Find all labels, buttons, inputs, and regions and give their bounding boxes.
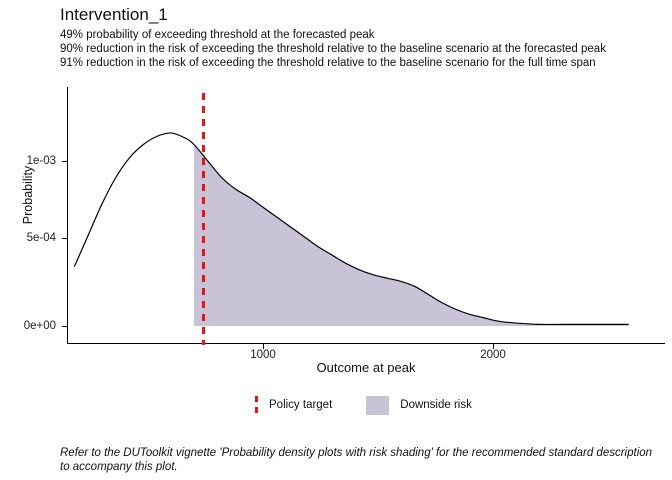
legend: Policy target Downside risk: [255, 392, 595, 418]
downside-risk-area: [194, 145, 629, 327]
probability-density-plot: Intervention_1 49% probability of exceed…: [0, 0, 672, 480]
plot-caption: Refer to the DUToolkit vignette 'Probabi…: [60, 446, 660, 474]
legend-label-policy-target: Policy target: [269, 399, 332, 411]
dashed-line-icon: [255, 396, 258, 415]
legend-item-downside-risk[interactable]: Downside risk: [366, 396, 472, 415]
policy-target-vline: [202, 93, 205, 345]
legend-item-policy-target[interactable]: Policy target: [255, 396, 332, 415]
legend-label-downside-risk: Downside risk: [400, 399, 472, 411]
filled-square-icon: [366, 396, 389, 415]
